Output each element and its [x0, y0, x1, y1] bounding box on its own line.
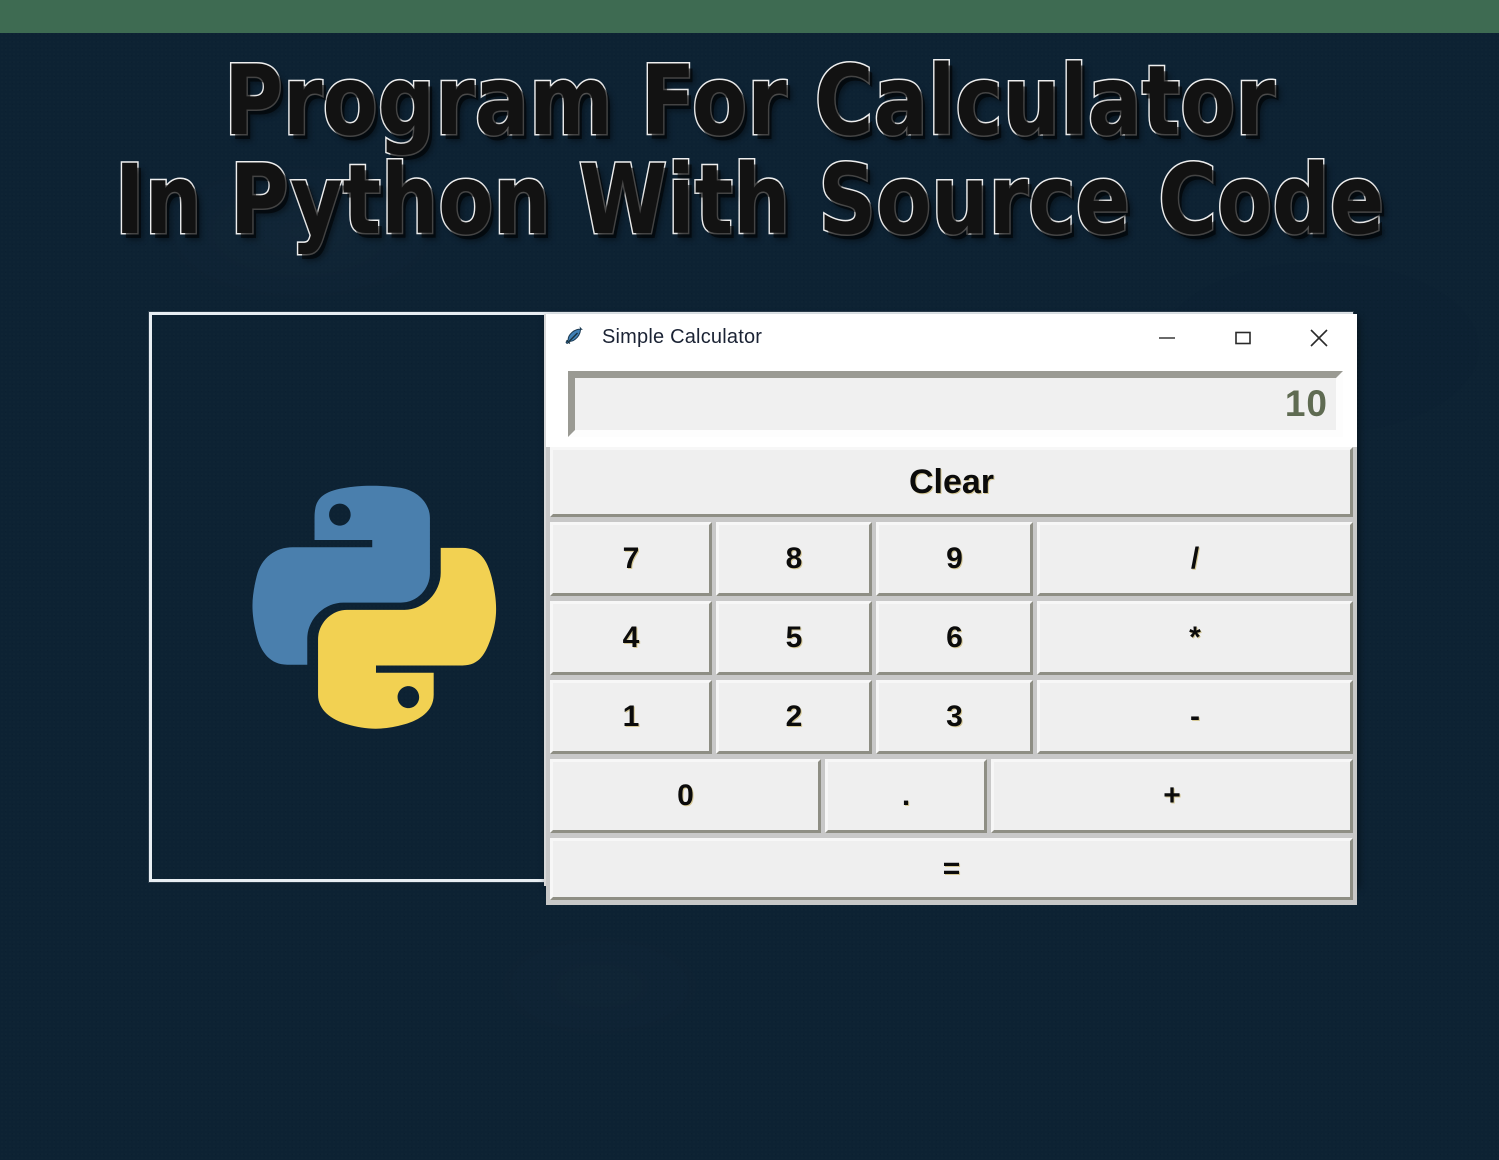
close-button[interactable] — [1281, 314, 1357, 361]
key-multiply[interactable]: * — [1037, 601, 1353, 675]
window-controls — [1129, 314, 1357, 361]
clear-button[interactable]: Clear — [550, 447, 1353, 517]
python-logo — [243, 420, 501, 780]
key-4[interactable]: 4 — [550, 601, 712, 675]
poster-canvas: Program For Calculator In Python With So… — [0, 0, 1499, 1160]
display-value: 10 — [1285, 383, 1336, 425]
maximize-button[interactable] — [1205, 314, 1281, 361]
key-3[interactable]: 3 — [876, 680, 1033, 754]
keypad-row-2: 4 5 6 * — [550, 601, 1353, 675]
page-title: Program For Calculator In Python With So… — [0, 52, 1499, 250]
keypad-row-4: 0 . + — [550, 759, 1353, 833]
keypad-row-equals: = — [550, 838, 1353, 900]
window-titlebar[interactable]: Simple Calculator — [546, 314, 1357, 361]
maximize-icon — [1232, 327, 1254, 349]
key-5[interactable]: 5 — [716, 601, 872, 675]
key-2[interactable]: 2 — [716, 680, 872, 754]
key-minus[interactable]: - — [1037, 680, 1353, 754]
calculator-body: 10 Clear 7 8 9 / 4 5 6 * — [546, 371, 1357, 905]
minimize-icon — [1156, 327, 1178, 349]
key-7[interactable]: 7 — [550, 522, 712, 596]
headline-line-1: Program For Calculator — [52, 52, 1446, 151]
key-9[interactable]: 9 — [876, 522, 1033, 596]
tkinter-feather-icon — [562, 326, 586, 350]
key-equals[interactable]: = — [550, 838, 1353, 900]
keypad-row-3: 1 2 3 - — [550, 680, 1353, 754]
key-1[interactable]: 1 — [550, 680, 712, 754]
window-title: Simple Calculator — [602, 326, 762, 349]
key-plus[interactable]: + — [991, 759, 1353, 833]
keypad-row-1: 7 8 9 / — [550, 522, 1353, 596]
calculator-window: Simple Calculator — [544, 314, 1357, 886]
headline-line-2: In Python With Source Code — [52, 151, 1446, 250]
key-8[interactable]: 8 — [716, 522, 872, 596]
keypad-row-clear: Clear — [550, 447, 1353, 517]
top-green-band — [0, 0, 1499, 33]
key-0[interactable]: 0 — [550, 759, 821, 833]
key-6[interactable]: 6 — [876, 601, 1033, 675]
calculator-display[interactable]: 10 — [568, 371, 1343, 437]
key-divide[interactable]: / — [1037, 522, 1353, 596]
minimize-button[interactable] — [1129, 314, 1205, 361]
key-decimal[interactable]: . — [825, 759, 987, 833]
close-icon — [1307, 326, 1331, 350]
calculator-keypad: Clear 7 8 9 / 4 5 6 * 1 2 3 — [546, 447, 1357, 905]
